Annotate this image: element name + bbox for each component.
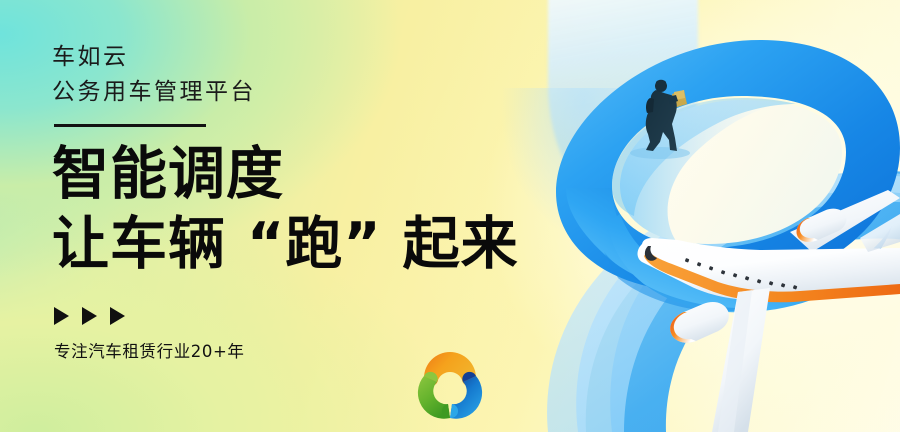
headline-line-2: 让车辆 “跑” 起来 [52,209,612,279]
tagline: 专注汽车租赁行业20+年 [54,338,612,362]
cloud-logo [398,330,502,422]
headline-line-1: 智能调度 [52,139,612,209]
text-column: 车如云 公务用车管理平台 智能调度 让车辆 “跑” 起来 专注汽车租赁行业20+… [52,40,612,362]
brand-name: 车如云 [52,40,612,74]
arrow-marker-group [54,307,612,325]
brand-subtitle: 公务用车管理平台 [52,74,612,110]
triangle-icon [82,307,97,325]
promo-banner: 车如云 公务用车管理平台 智能调度 让车辆 “跑” 起来 专注汽车租赁行业20+… [0,0,900,432]
triangle-icon [110,307,125,325]
triangle-icon [54,307,69,325]
divider-rule [54,124,206,127]
